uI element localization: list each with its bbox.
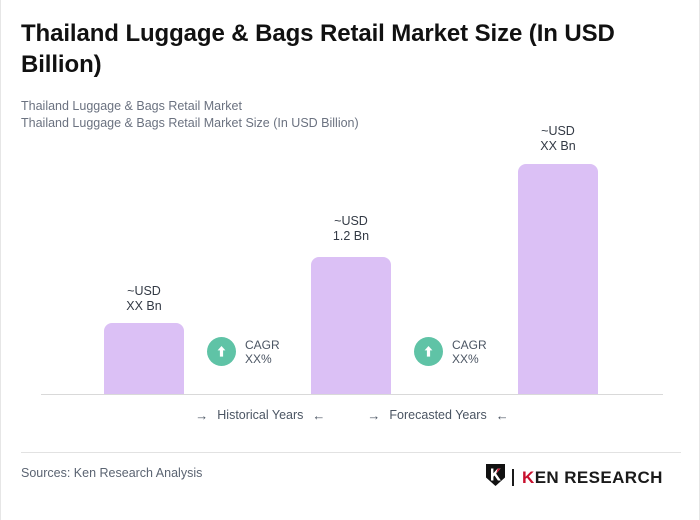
arrow-right-icon: → <box>367 409 380 422</box>
bar-value-label-line1: ~USD <box>498 124 618 139</box>
arrow-left-icon: ← <box>496 409 509 422</box>
brand-rest-text: EN RESEARCH <box>535 469 663 486</box>
cagr-badge: CAGR XX% <box>414 337 487 366</box>
arrow-right-icon: → <box>195 409 208 422</box>
axis-baseline <box>41 394 663 395</box>
cagr-value: XX% <box>245 352 280 366</box>
bar-value-label: ~USD XX Bn <box>84 284 204 313</box>
bar-value-label-line2: XX Bn <box>498 139 618 154</box>
legend-item-historical-years: → Historical Years ← <box>195 408 325 422</box>
logo-divider <box>512 469 514 486</box>
cagr-label-line1: CAGR <box>245 338 280 352</box>
arrow-left-icon: ← <box>312 409 325 422</box>
bar-forecast[interactable] <box>518 164 598 394</box>
bar-value-label-line2: XX Bn <box>84 299 204 314</box>
arrow-up-icon <box>207 337 236 366</box>
bar-base-year[interactable] <box>311 257 391 394</box>
arrow-up-icon <box>414 337 443 366</box>
cagr-label-line1: CAGR <box>452 338 487 352</box>
bar-value-label-line2: 1.2 Bn <box>291 229 411 244</box>
bar-value-label-line1: ~USD <box>84 284 204 299</box>
legend-item-forecasted-years: → Forecasted Years ← <box>367 408 508 422</box>
period-legend: → Historical Years ← → Forecasted Years … <box>41 408 663 422</box>
legend-label-historical: Historical Years <box>217 408 303 422</box>
footer-divider <box>21 452 681 453</box>
chart-plot-area: ~USD XX Bn ~USD 1.2 Bn ~USD XX Bn CAGR <box>1 0 700 400</box>
bar-value-label: ~USD 1.2 Bn <box>291 214 411 243</box>
brand-accent-letter: K <box>522 469 535 486</box>
cagr-label: CAGR XX% <box>245 338 280 366</box>
bar-value-label-line1: ~USD <box>291 214 411 229</box>
cagr-value: XX% <box>452 352 487 366</box>
shield-k-icon <box>485 463 506 492</box>
ken-research-logo: K EN RESEARCH <box>485 463 663 492</box>
legend-label-forecasted: Forecasted Years <box>389 408 486 422</box>
bar-historical[interactable] <box>104 323 184 394</box>
cagr-badge: CAGR XX% <box>207 337 280 366</box>
bar-value-label: ~USD XX Bn <box>498 124 618 153</box>
cagr-label: CAGR XX% <box>452 338 487 366</box>
brand-wordmark: K EN RESEARCH <box>522 469 663 486</box>
chart-page: Thailand Luggage & Bags Retail Market Si… <box>0 0 700 520</box>
sources-text: Sources: Ken Research Analysis <box>21 466 202 480</box>
